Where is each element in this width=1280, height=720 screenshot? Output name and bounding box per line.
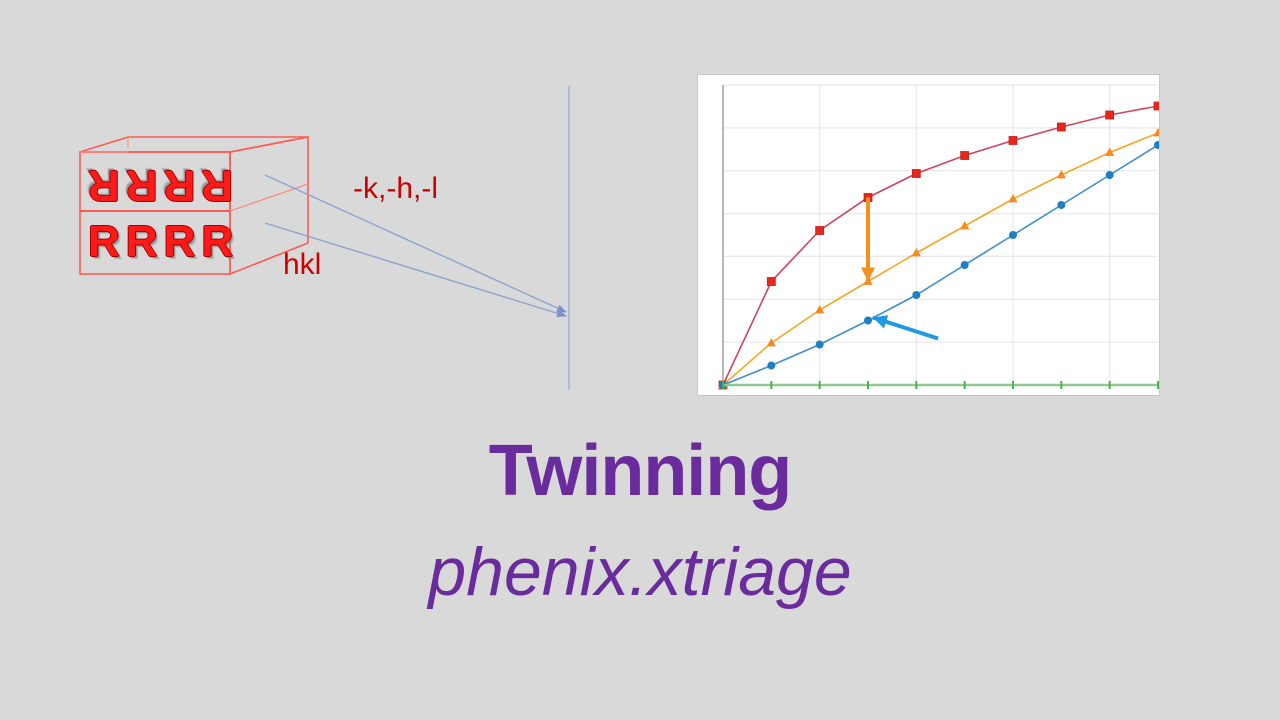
chart-canvas xyxy=(697,74,1160,396)
page-subtitle: phenix.xtriage xyxy=(0,533,1280,611)
twin-domain-top-letters: R R R R xyxy=(88,163,233,207)
marker-square xyxy=(961,152,969,160)
marker-square xyxy=(816,227,824,235)
annotation-blue-pointer-arrow xyxy=(873,315,938,338)
series-line xyxy=(723,106,1158,385)
letter-r: R xyxy=(126,220,158,264)
twin-domain-bottom-letters: R R R R xyxy=(88,220,233,264)
marker-circle xyxy=(1009,231,1017,239)
series-line xyxy=(723,145,1158,385)
marker-triangle xyxy=(912,248,921,256)
label-hkl: hkl xyxy=(283,248,321,282)
marker-triangle xyxy=(960,221,969,229)
marker-circle xyxy=(864,317,872,325)
marker-square xyxy=(1009,137,1017,145)
cumulative-intensity-chart xyxy=(697,74,1160,396)
letter-r: R xyxy=(164,163,196,207)
page-title: Twinning xyxy=(0,430,1280,512)
label-twin-operator: -k,-h,-l xyxy=(353,172,438,206)
marker-circle xyxy=(912,291,920,299)
series-untwinned-blue xyxy=(719,141,1160,389)
marker-circle xyxy=(1106,171,1114,179)
slide-root: R R R R R R R R hkl -k,-h,-l Twinning ph… xyxy=(0,0,1280,720)
marker-triangle xyxy=(815,305,824,313)
marker-circle xyxy=(816,341,824,349)
letter-r: R xyxy=(126,163,158,207)
series-perfect-twin-red xyxy=(719,102,1160,389)
series-partial-twin-orange xyxy=(718,128,1160,388)
marker-circle xyxy=(767,362,775,370)
marker-circle xyxy=(961,261,969,269)
letter-r: R xyxy=(164,220,196,264)
letter-r: R xyxy=(88,220,120,264)
annotation-orange-down-arrow xyxy=(861,198,875,282)
letter-r: R xyxy=(201,220,233,264)
series-baseline-green xyxy=(723,381,1158,389)
marker-square xyxy=(912,170,920,178)
marker-square xyxy=(1106,111,1114,119)
marker-square xyxy=(1057,123,1065,131)
letter-r: R xyxy=(88,163,120,207)
marker-circle xyxy=(1057,201,1065,209)
letter-r: R xyxy=(201,163,233,207)
marker-square xyxy=(767,278,775,286)
